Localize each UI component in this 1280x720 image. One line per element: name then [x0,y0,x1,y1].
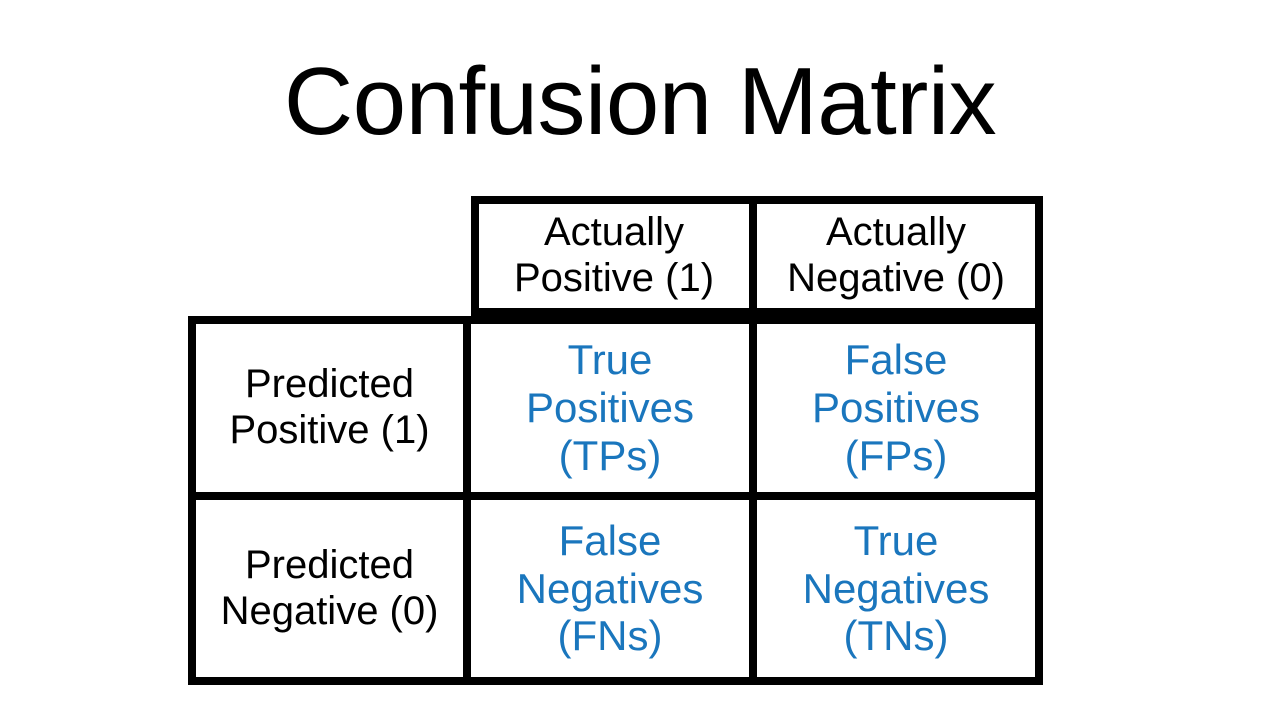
column-header-actually-positive-text: Actually Positive (1) [514,210,714,301]
cell-false-negatives-text: False Negatives (FNs) [517,517,704,661]
cell-false-positives-text: False Positives (FPs) [812,336,980,480]
row-header-line1: Predicted [229,362,429,408]
cell-line1: False [812,336,980,384]
cell-false-negatives: False Negatives (FNs) [463,492,757,685]
page-title: Confusion Matrix [0,52,1280,153]
cell-line2: Negatives [517,565,704,613]
cell-line1: False [517,517,704,565]
cell-line3: (FNs) [517,612,704,660]
row-header-line2: Positive (1) [229,408,429,454]
column-header-actually-negative-text: Actually Negative (0) [787,210,1005,301]
cell-true-positives-text: True Positives (TPs) [526,336,694,480]
column-header-line1: Actually [787,210,1005,256]
row-header-predicted-negative-text: Predicted Negative (0) [221,543,439,634]
cell-line1: True [803,517,990,565]
column-header-actually-negative: Actually Negative (0) [749,196,1043,316]
column-header-actually-positive: Actually Positive (1) [471,196,757,316]
row-header-predicted-positive-text: Predicted Positive (1) [229,362,429,453]
column-header-line2: Negative (0) [787,256,1005,302]
cell-true-negatives: True Negatives (TNs) [749,492,1043,685]
confusion-matrix-table: Actually Positive (1) Actually Negative … [188,196,1043,685]
cell-line2: Negatives [803,565,990,613]
cell-line3: (FPs) [812,432,980,480]
cell-line2: Positives [812,384,980,432]
cell-true-negatives-text: True Negatives (TNs) [803,517,990,661]
cell-line2: Positives [526,384,694,432]
cell-false-positives: False Positives (FPs) [749,316,1043,500]
cell-true-positives: True Positives (TPs) [463,316,757,500]
row-header-line1: Predicted [221,543,439,589]
cell-line3: (TNs) [803,612,990,660]
row-header-predicted-negative: Predicted Negative (0) [188,492,471,685]
cell-line1: True [526,336,694,384]
matrix-corner-cell [188,196,471,316]
cell-line3: (TPs) [526,432,694,480]
column-header-line2: Positive (1) [514,256,714,302]
row-header-predicted-positive: Predicted Positive (1) [188,316,471,500]
slide-canvas: Confusion Matrix Actually Positive (1) A… [0,0,1280,720]
column-header-line1: Actually [514,210,714,256]
row-header-line2: Negative (0) [221,589,439,635]
